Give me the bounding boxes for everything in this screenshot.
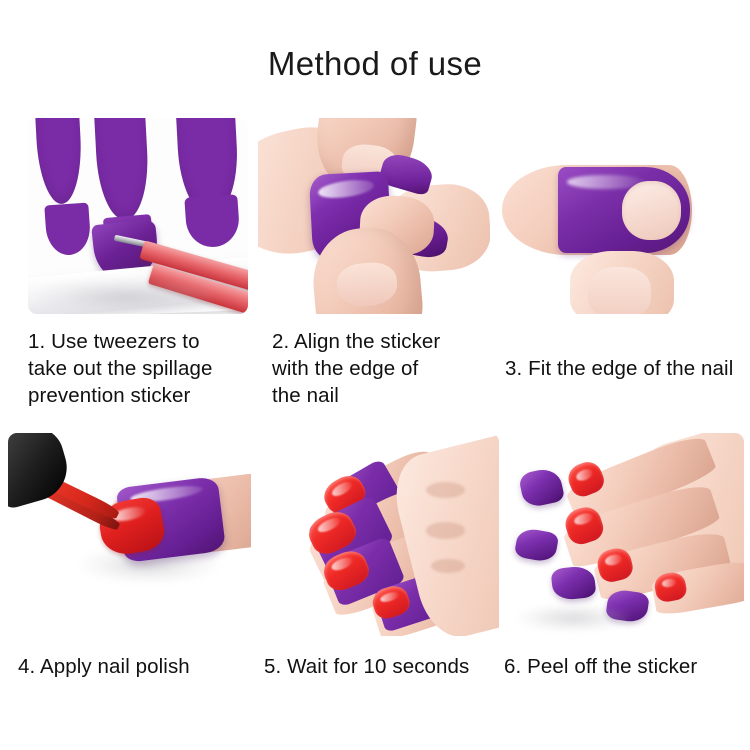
step-card-4: 4. Apply nail polish: [8, 433, 251, 636]
step-6-photo: [504, 433, 744, 636]
step-5-photo: [256, 433, 499, 636]
drop-shadow: [518, 604, 628, 632]
step-4-caption: 4. Apply nail polish: [18, 653, 253, 680]
page-title: Method of use: [0, 46, 750, 82]
knuckle-3: [431, 559, 465, 573]
instruction-infographic: Method of use 1. Use tweezers to tak: [0, 0, 750, 750]
step-3-caption: 3. Fit the edge of the nail: [505, 355, 750, 382]
knuckle-1: [426, 482, 465, 498]
step-6-caption: 6. Peel off the sticker: [504, 653, 744, 680]
step-card-2: 2. Align the sticker with the edge of th…: [258, 118, 490, 314]
step-2-photo: [258, 118, 490, 314]
nail: [622, 181, 681, 240]
step-card-5: 5. Wait for 10 seconds: [256, 433, 499, 636]
step-3-photo: [497, 118, 724, 314]
step-1-photo: [28, 118, 248, 314]
step-2-caption: 2. Align the sticker with the edge of th…: [272, 328, 492, 409]
step-card-3: 3. Fit the edge of the nail: [497, 118, 724, 314]
drop-shadow: [37, 279, 213, 314]
step-4-photo: [8, 433, 251, 636]
step-1-caption: 1. Use tweezers to take out the spillage…: [28, 328, 256, 409]
step-5-caption: 5. Wait for 10 seconds: [264, 653, 504, 680]
knuckle-2: [426, 522, 465, 538]
step-card-1: 1. Use tweezers to take out the spillage…: [28, 118, 248, 314]
nail-secondary: [588, 267, 652, 314]
step-card-6: 6. Peel off the sticker: [504, 433, 744, 636]
